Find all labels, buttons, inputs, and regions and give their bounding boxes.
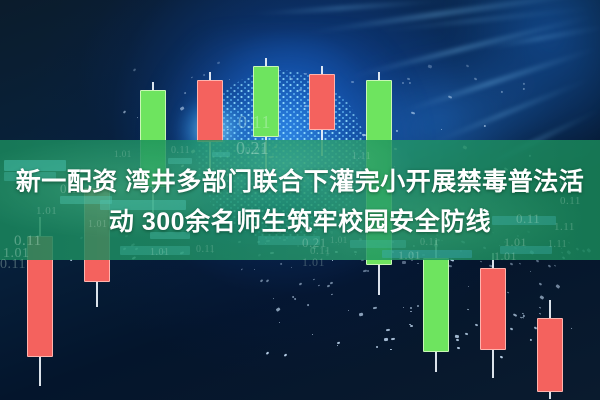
candle-body [480, 268, 506, 350]
banner-image: 0.110.111.011.011.010.111.010.110.210.21… [0, 0, 600, 400]
floating-number: 0.11 [0, 258, 26, 272]
candle-9 [537, 300, 563, 399]
candle-body [537, 318, 563, 392]
candle-body [309, 74, 335, 130]
candle-body [423, 258, 449, 352]
headline-line-1: 新一配资 湾井多部门联合下灌完小开展禁毒普法活 [16, 162, 584, 198]
headline-block: 新一配资 湾井多部门联合下灌完小开展禁毒普法活 动 300余名师生筑牢校园安全防… [0, 140, 600, 260]
candle-8 [480, 253, 506, 378]
headline-line-2: 动 300余名师生筑牢校园安全防线 [109, 202, 491, 238]
candle-body [197, 80, 223, 142]
floating-number: 0.11 [238, 113, 271, 131]
